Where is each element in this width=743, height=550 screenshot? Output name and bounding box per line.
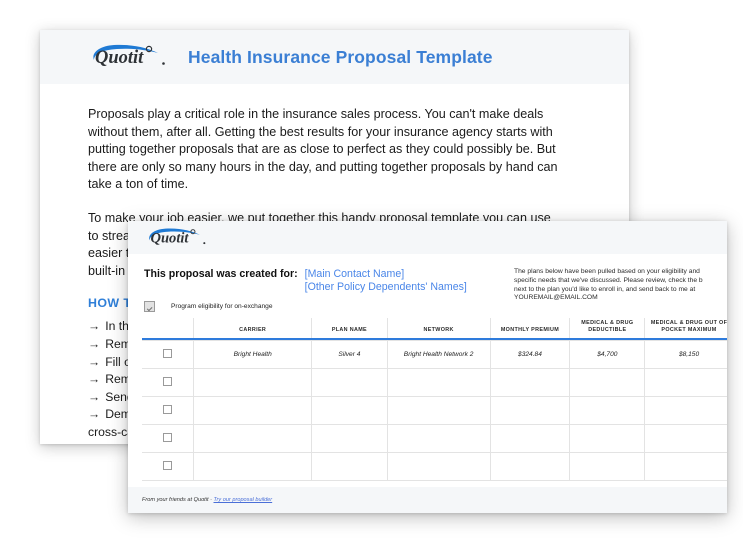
arrow-icon: → (88, 372, 100, 386)
cell-plan-name: Silver 4 (312, 341, 387, 369)
cell-monthly-premium (490, 397, 570, 425)
cell-network (387, 453, 490, 481)
intro-paragraph-1: Proposals play a critical role in the in… (88, 106, 558, 194)
row-select-cell[interactable] (142, 397, 194, 425)
column-header-select (142, 318, 194, 338)
page-title: Health Insurance Proposal Template (188, 47, 493, 68)
quotit-logo-icon: Quotit (88, 43, 172, 71)
cell-deductible: $4,700 (570, 341, 645, 369)
column-header-network: NETWORK (387, 318, 490, 338)
table-row (142, 425, 727, 453)
instructions-line-2: specific needs that we've discussed. Ple… (514, 277, 711, 286)
cell-out-of-pocket-max (645, 425, 727, 453)
created-for-row: This proposal was created for: [Main Con… (144, 268, 504, 294)
row-checkbox[interactable] (163, 377, 172, 386)
proposal-recipient-block: This proposal was created for: [Main Con… (144, 268, 504, 308)
cell-deductible (570, 397, 645, 425)
template-document-header: Quotit Health Insurance Proposal Templat… (40, 30, 629, 84)
arrow-icon: → (88, 355, 100, 369)
cell-network (387, 425, 490, 453)
arrow-icon: → (88, 407, 100, 421)
footer-credit: From your friends at Quotit · (142, 497, 214, 503)
plans-table-body: Bright Health Silver 4 Bright Health Net… (142, 341, 727, 481)
cell-plan-name (312, 369, 387, 397)
row-select-cell[interactable] (142, 425, 194, 453)
cell-carrier (194, 425, 312, 453)
eligibility-checkbox[interactable] (144, 301, 155, 312)
cell-plan-name (312, 397, 387, 425)
cell-deductible (570, 425, 645, 453)
cell-monthly-premium (490, 369, 570, 397)
row-checkbox[interactable] (163, 433, 172, 442)
plans-table-wrapper: CARRIER PLAN NAME NETWORK MONTHLY PREMIU… (128, 318, 727, 481)
footer-text: From your friends at Quotit · Try our pr… (142, 497, 272, 503)
cell-deductible (570, 369, 645, 397)
row-checkbox[interactable] (163, 349, 172, 358)
instructions-line-3: next to the plan you'd like to enroll in… (514, 286, 711, 295)
cell-network (387, 369, 490, 397)
column-header-monthly-premium: MONTHLY PREMIUM (490, 318, 570, 338)
eligibility-row: Program eligibility for on-exchange (144, 301, 504, 312)
row-select-cell[interactable] (142, 453, 194, 481)
column-header-carrier: CARRIER (194, 318, 312, 338)
cell-plan-name (312, 453, 387, 481)
row-checkbox[interactable] (163, 405, 172, 414)
arrow-icon: → (88, 337, 100, 351)
column-header-out-of-pocket-max: MEDICAL & DRUG OUT OF POCKET MAXIMUM (645, 318, 727, 338)
arrow-icon: → (88, 319, 100, 333)
cell-carrier (194, 369, 312, 397)
cell-monthly-premium (490, 453, 570, 481)
cell-carrier (194, 397, 312, 425)
cell-out-of-pocket-max (645, 453, 727, 481)
cell-carrier (194, 453, 312, 481)
cell-out-of-pocket-max: $8,150 (645, 341, 727, 369)
proposal-sheet-card: Quotit This proposal was created for: [M… (128, 221, 727, 513)
plans-table: CARRIER PLAN NAME NETWORK MONTHLY PREMIU… (142, 318, 727, 481)
created-for-label: This proposal was created for: (144, 268, 298, 281)
proposal-builder-link[interactable]: Try our proposal builder (214, 497, 273, 503)
instructions-line-1: The plans below have been pulled based o… (514, 268, 711, 277)
row-select-cell[interactable] (142, 369, 194, 397)
cell-network (387, 397, 490, 425)
row-select-cell[interactable] (142, 341, 194, 369)
quotit-logo-icon: Quotit (145, 227, 211, 249)
proposal-instructions-block: The plans below have been pulled based o… (504, 268, 711, 308)
svg-text:Quotit: Quotit (151, 230, 190, 246)
created-for-links: [Main Contact Name] [Other Policy Depend… (305, 268, 467, 294)
plans-table-header-row: CARRIER PLAN NAME NETWORK MONTHLY PREMIU… (142, 318, 727, 338)
proposal-sheet-footer: From your friends at Quotit · Try our pr… (128, 487, 727, 513)
cell-plan-name (312, 425, 387, 453)
eligibility-label: Program eligibility for on-exchange (171, 303, 273, 310)
proposal-sheet-header: Quotit (128, 221, 727, 254)
svg-text:Quotit: Quotit (95, 48, 144, 68)
cell-out-of-pocket-max (645, 397, 727, 425)
policy-dependents-names-link[interactable]: [Other Policy Dependents' Names] (305, 281, 467, 294)
row-checkbox[interactable] (163, 461, 172, 470)
cell-out-of-pocket-max (645, 369, 727, 397)
cell-carrier: Bright Health (194, 341, 312, 369)
screenshot-stage: Quotit Health Insurance Proposal Templat… (0, 0, 743, 550)
arrow-icon: → (88, 390, 100, 404)
proposal-meta-section: This proposal was created for: [Main Con… (128, 254, 727, 318)
table-row (142, 369, 727, 397)
cell-deductible (570, 453, 645, 481)
cell-monthly-premium: $324.84 (490, 341, 570, 369)
main-contact-name-link[interactable]: [Main Contact Name] (305, 268, 467, 281)
table-row: Bright Health Silver 4 Bright Health Net… (142, 341, 727, 369)
column-header-plan-name: PLAN NAME (312, 318, 387, 338)
cell-network: Bright Health Network 2 (387, 341, 490, 369)
contact-email: YOUREMAIL@EMAIL.COM (514, 294, 711, 303)
column-header-deductible: MEDICAL & DRUG DEDUCTIBLE (570, 318, 645, 338)
table-row (142, 453, 727, 481)
table-row (142, 397, 727, 425)
cell-monthly-premium (490, 425, 570, 453)
